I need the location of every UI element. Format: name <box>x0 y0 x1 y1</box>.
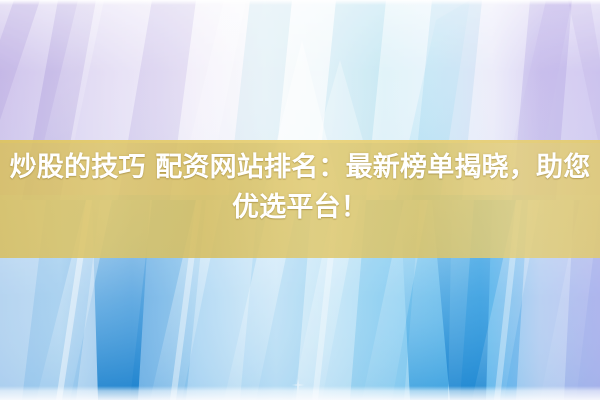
banner-headline: 炒股的技巧 配资网站排名：最新榜单揭晓，助您优选平台！ <box>0 148 600 228</box>
promo-banner: 炒股的技巧 配资网站排名：最新榜单揭晓，助您优选平台！ <box>0 0 600 400</box>
